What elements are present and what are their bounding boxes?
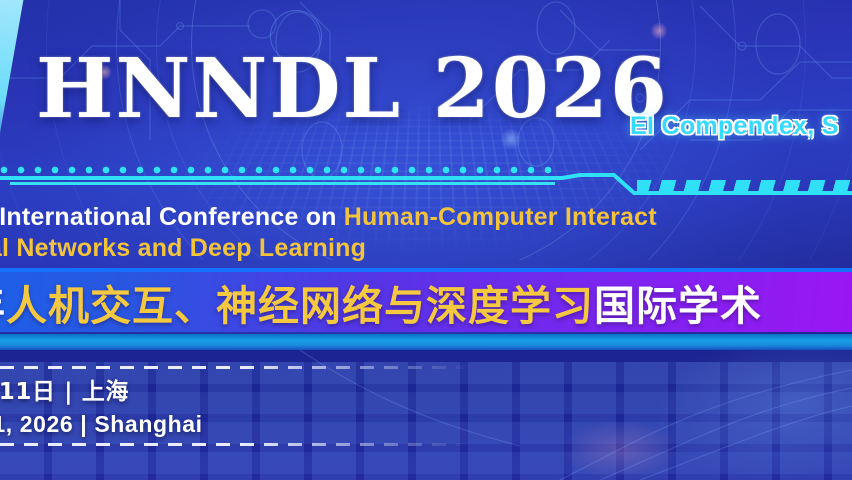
english-subtitle-white-part: 6 International Conference on	[0, 203, 344, 231]
divider-hatch-stripes	[637, 180, 852, 195]
conference-banner: HNNDL 2026 EI Compendex, S 6 Internation…	[0, 0, 852, 480]
glow-dot-icon	[650, 22, 668, 40]
dashed-rule-bottom	[0, 443, 470, 446]
chinese-title-band: 年人机交互、神经网络与深度学习国际学术	[0, 268, 852, 332]
page-title: HNNDL 2026	[36, 48, 669, 130]
english-subtitle-line-1: 6 International Conference on Human-Comp…	[0, 202, 852, 233]
english-subtitle-gold-part: Human-Computer Interact	[344, 203, 657, 231]
decorative-divider	[0, 160, 852, 204]
date-location-chinese: 9-11日 | 上海	[0, 378, 203, 407]
chinese-title: 年人机交互、神经网络与深度学习国际学术	[0, 272, 762, 332]
english-subtitle: 6 International Conference on Human-Comp…	[0, 202, 852, 263]
indexing-badge: EI Compendex, S	[630, 112, 839, 141]
date-location-english: -11, 2026 | Shanghai	[0, 407, 203, 442]
chinese-title-suffix: 国际学术	[594, 282, 762, 330]
chinese-title-highlight: 人机交互、神经网络与深度学习	[6, 282, 594, 330]
title-block: HNNDL 2026	[36, 48, 669, 130]
english-subtitle-line-2: ral Networks and Deep Learning	[0, 233, 852, 264]
cyan-accent-bar	[0, 334, 852, 350]
dashed-rule-top	[0, 366, 470, 369]
date-location-block: 9-11日 | 上海 -11, 2026 | Shanghai	[0, 378, 203, 441]
